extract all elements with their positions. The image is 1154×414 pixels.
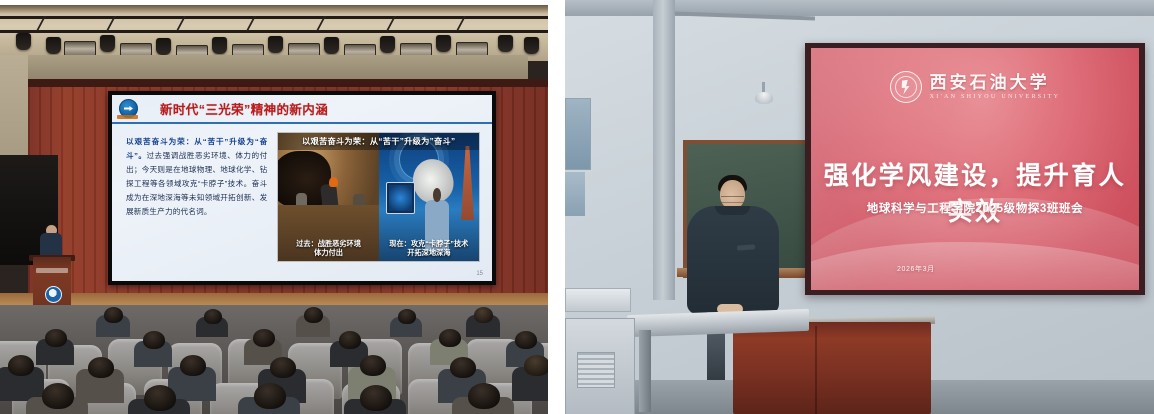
computer-monitor — [386, 182, 415, 215]
stage-light — [156, 38, 171, 55]
stage-light — [380, 36, 395, 53]
wall-window — [565, 172, 585, 216]
university-name-cn: 西安石油大学 — [930, 74, 1061, 91]
audience-head — [468, 383, 500, 409]
stage-light — [324, 37, 339, 54]
stage-light — [498, 35, 513, 52]
audience-head — [439, 329, 461, 347]
worker-figure — [353, 194, 365, 225]
audience-head — [42, 383, 74, 409]
university-seal-logo — [890, 71, 922, 103]
audience-head — [524, 355, 548, 376]
university-branding: 西安石油大学 XI'AN SHIYOU UNIVERSITY — [811, 71, 1139, 103]
figure-banner-text: 以艰苦奋斗为荣：从“苦干”升级为”奋斗” — [278, 133, 479, 150]
wall-pillar — [653, 0, 675, 300]
audience-head — [8, 355, 34, 376]
ceiling-camera — [755, 92, 773, 104]
university-name-block: 西安石油大学 XI'AN SHIYOU UNIVERSITY — [930, 74, 1061, 100]
projection-screen: 新时代“三光荣”精神的新内涵 以艰苦奋斗为荣：从“苦干”升级为“奋斗”。过去强调… — [108, 91, 496, 285]
university-seal-mark — [900, 79, 912, 94]
slide-date: 2026年3月 — [897, 264, 935, 274]
presenter-collar — [715, 206, 750, 215]
audience-head — [270, 357, 296, 378]
stage-light — [268, 36, 283, 53]
lectern-leg — [639, 330, 651, 412]
audience-head — [45, 329, 67, 347]
stage-light — [524, 37, 539, 54]
teacher-desk — [733, 322, 931, 414]
title-slide: 西安石油大学 XI'AN SHIYOU UNIVERSITY 强化学风建设，提升… — [811, 48, 1139, 290]
stage-light — [212, 37, 227, 54]
stage-light — [100, 35, 115, 52]
audience-head — [144, 385, 176, 411]
drilling-derrick — [461, 146, 474, 220]
slide-title: 新时代“三光荣”精神的新内涵 — [160, 99, 328, 118]
slide-figure: 以艰苦奋斗为荣：从“苦干”升级为”奋斗” 过去：战胜恶劣环境 体力付出 — [275, 124, 492, 281]
projection-screen: 西安石油大学 XI'AN SHIYOU UNIVERSITY 强化学风建设，提升… — [805, 43, 1145, 295]
audience-head — [339, 331, 361, 349]
worker-figure — [320, 184, 342, 242]
slide-paragraph: 以艰苦奋斗为荣：从“苦干”升级为“奋斗”。过去强调战胜恶劣环境、体力的付出；今天… — [112, 124, 275, 281]
audience-head — [450, 357, 476, 378]
teacher-desk-seam — [815, 326, 817, 414]
wall-window — [565, 98, 591, 170]
audience-head — [515, 331, 537, 349]
audience-head — [360, 355, 386, 376]
audience-head — [474, 307, 493, 323]
audience-head — [180, 355, 206, 376]
figure-caption-now-line: 现在：攻克“卡脖子”技术 开拓深地深海 — [379, 239, 479, 258]
audience-head — [143, 331, 165, 349]
lighting-truss-lower — [0, 30, 548, 33]
screenshot-root: 新时代“三光荣”精神的新内涵 以艰苦奋斗为荣：从“苦干”升级为“奋斗”。过去强调… — [0, 0, 1154, 414]
audience-head — [104, 307, 123, 323]
university-emblem — [45, 286, 62, 303]
presenter-body — [687, 206, 779, 314]
classroom-presentation-photo: 西安石油大学 XI'AN SHIYOU UNIVERSITY 强化学风建设，提升… — [565, 0, 1154, 414]
slide-main-title: 强化学风建设，提升育人实效 — [811, 156, 1139, 228]
auditorium-lecture-photo: 新时代“三光荣”精神的新内涵 以艰苦奋斗为荣：从“苦干”升级为“奋斗”。过去强调… — [0, 5, 548, 414]
audience-head — [254, 383, 286, 409]
presenter-glasses — [721, 196, 744, 203]
figure-caption-past: 过去：战胜恶劣环境 体力付出 — [278, 239, 378, 258]
audience-head — [304, 307, 323, 323]
slide-body: 以艰苦奋斗为荣：从“苦干”升级为“奋斗”。过去强调战胜恶劣环境、体力的付出；今天… — [112, 124, 492, 281]
university-name-en: XI'AN SHIYOU UNIVERSITY — [930, 94, 1061, 100]
presenter-head — [720, 180, 745, 209]
cabinet-vent — [577, 352, 615, 388]
figure-caption-now: 现在：攻克“卡脖子”技术 开拓深地深海 — [379, 239, 479, 258]
audience-head — [253, 329, 275, 347]
stage-light — [46, 37, 61, 54]
backdrop-top-trim — [28, 79, 548, 87]
slide-header: 新时代“三光荣”精神的新内涵 — [112, 95, 492, 124]
figure-caption-past-line: 过去：战胜恶劣环境 体力付出 — [278, 239, 378, 258]
slide-paragraph-rest: 过去强调战胜恶劣环境、体力的付出；今天则是在地球物理、地球化学、钻探工程等各领域… — [126, 151, 267, 216]
shaanxi-geology-logo-text — [117, 115, 138, 119]
safety-helmet — [329, 177, 338, 187]
slide-page-number: 15 — [476, 271, 483, 277]
audience-head — [88, 357, 114, 378]
presentation-slide: 新时代“三光荣”精神的新内涵 以艰苦奋斗为荣：从“苦干”升级为“奋斗”。过去强调… — [112, 95, 492, 281]
stage-light — [436, 35, 451, 52]
audience-head — [360, 385, 392, 411]
lighting-truss-upper — [0, 16, 548, 19]
figure-past-photo: 过去：战胜恶劣环境 体力付出 — [278, 133, 378, 261]
figure-image-pair: 以艰苦奋斗为荣：从“苦干”升级为”奋斗” 过去：战胜恶劣环境 体力付出 — [277, 132, 480, 262]
stage-light — [16, 33, 31, 50]
audience-head — [398, 309, 416, 324]
audience-seating — [0, 305, 548, 414]
slide-subtitle: 地球科学与工程学院2025级物探3班班会 — [811, 200, 1139, 216]
worker-figure — [296, 193, 307, 221]
audience-head — [204, 309, 222, 324]
equipment-console — [565, 288, 631, 312]
figure-present-photo: 现在：攻克“卡脖子”技术 开拓深地深海 — [379, 133, 479, 261]
podium-nameplate — [36, 268, 68, 273]
